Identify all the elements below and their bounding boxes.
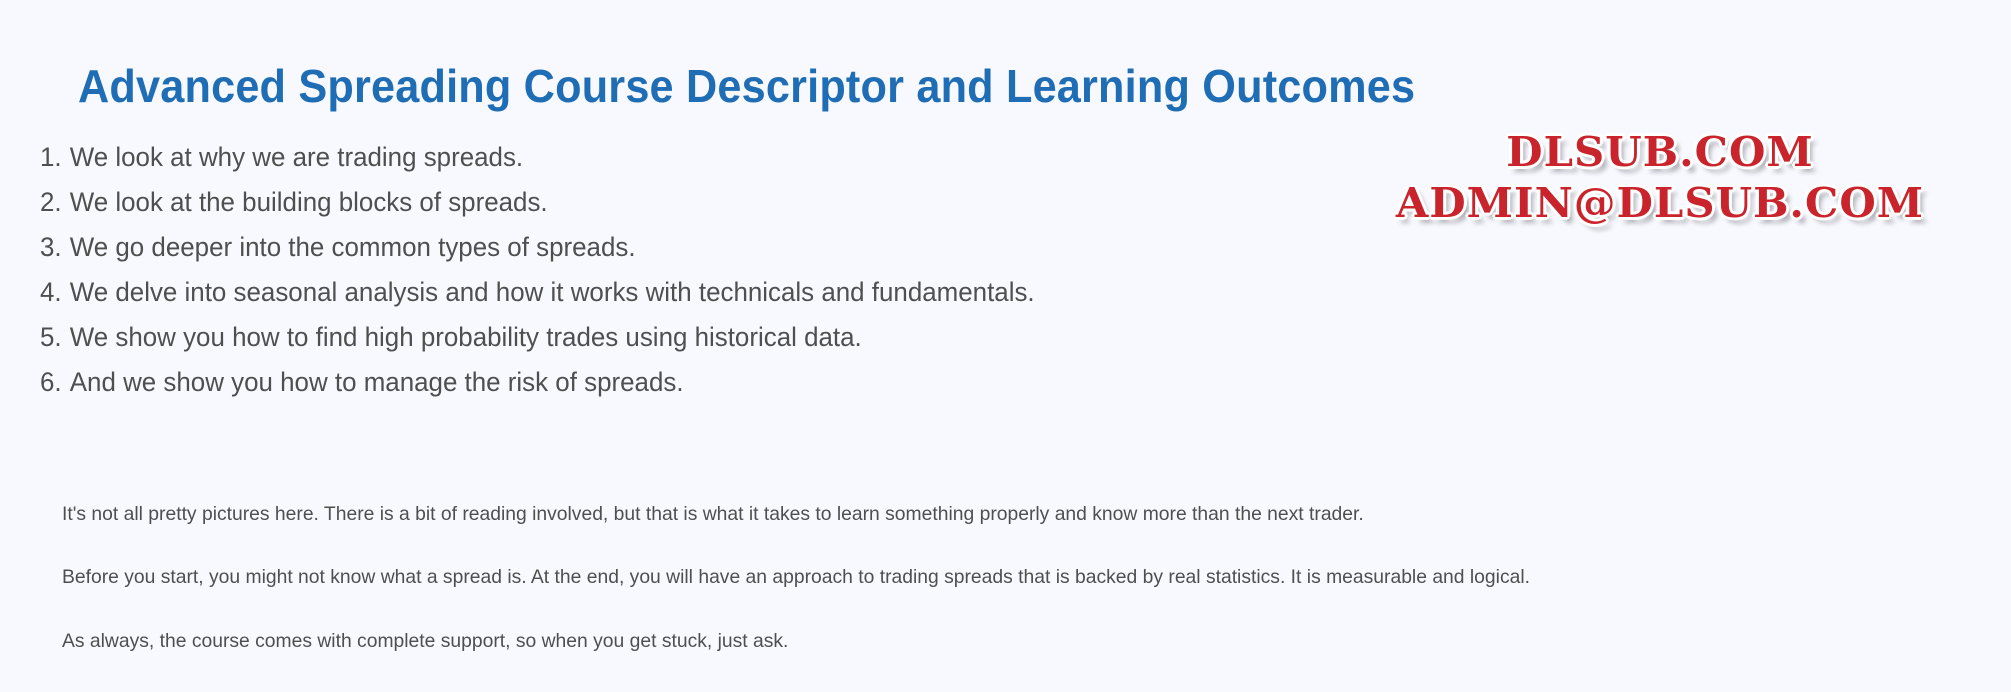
list-item-number: 2. (40, 187, 65, 218)
note-paragraph: As always, the course comes with complet… (62, 629, 1943, 673)
list-item-label: We show you how to find high probability… (70, 322, 862, 353)
list-item-number: 5. (40, 322, 65, 353)
list-item: 5. We show you how to find high probabil… (40, 322, 1250, 367)
list-item-label: We go deeper into the common types of sp… (70, 232, 636, 263)
notes-section: It's not all pretty pictures here. There… (62, 482, 1962, 692)
list-item-number: 1. (40, 142, 65, 173)
list-item: 4. We delve into seasonal analysis and h… (40, 277, 1250, 322)
document-page: Advanced Spreading Course Descriptor and… (0, 0, 2011, 668)
list-item-number: 4. (40, 277, 65, 308)
note-paragraph: Before you start, you might not know wha… (62, 565, 1943, 609)
note-paragraph: It's not all pretty pictures here. There… (62, 502, 1943, 546)
watermark-site-label: DLSUB.COM (1318, 132, 2001, 173)
list-item: 1. We look at why we are trading spreads… (40, 142, 1250, 187)
list-item: 3. We go deeper into the common types of… (40, 232, 1250, 277)
page-title: Advanced Spreading Course Descriptor and… (78, 59, 1415, 114)
watermark-email-label: ADMIN@DLSUB.COM (1318, 183, 2001, 224)
list-item-label: And we show you how to manage the risk o… (70, 367, 684, 398)
list-item-number: 6. (40, 367, 65, 398)
list-item: 6. And we show you how to manage the ris… (40, 367, 1250, 412)
watermark: DLSUB.COM ADMIN@DLSUB.COM (1325, 132, 1995, 224)
list-item-label: We delve into seasonal analysis and how … (70, 277, 1035, 308)
list-item-label: We look at the building blocks of spread… (70, 187, 548, 218)
learning-outcomes-list: 1. We look at why we are trading spreads… (40, 142, 1300, 412)
list-item: 2. We look at the building blocks of spr… (40, 187, 1250, 232)
list-item-number: 3. (40, 232, 65, 263)
list-item-label: We look at why we are trading spreads. (70, 142, 523, 173)
